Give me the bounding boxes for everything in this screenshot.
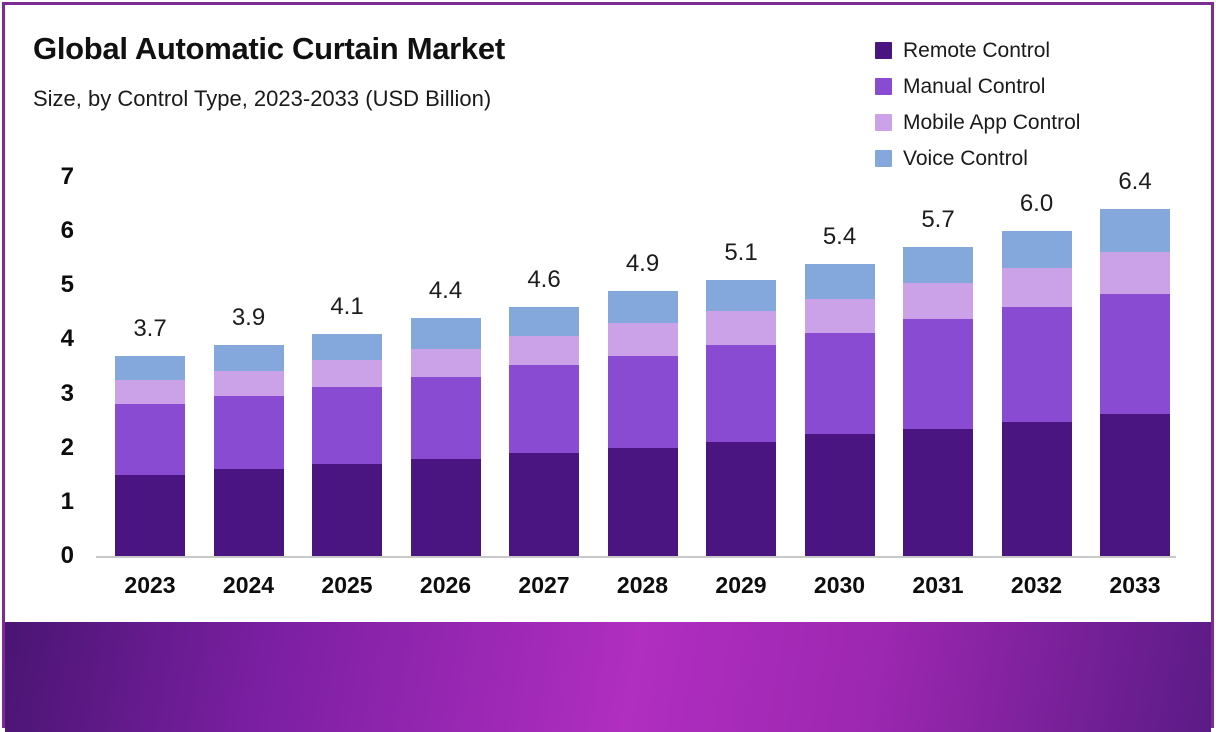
bar-stack[interactable]: [805, 264, 875, 556]
y-axis-tick-label: 5: [42, 271, 74, 299]
bar-segment[interactable]: [509, 307, 579, 336]
bar-segment[interactable]: [1100, 294, 1170, 414]
bar-segment[interactable]: [608, 356, 678, 448]
bar-segment[interactable]: [903, 319, 973, 428]
y-axis-tick-label: 7: [42, 163, 74, 191]
bar-stack[interactable]: [509, 307, 579, 556]
bar-segment[interactable]: [903, 429, 973, 556]
bar-stack[interactable]: [706, 280, 776, 556]
bar-stack[interactable]: [115, 356, 185, 556]
bar-segment[interactable]: [312, 464, 382, 556]
y-axis-tick-label: 1: [42, 488, 74, 516]
bar-segment[interactable]: [411, 377, 481, 458]
bar-segment[interactable]: [706, 280, 776, 311]
bottom-banner: [5, 622, 1211, 732]
bar-segment[interactable]: [312, 360, 382, 387]
bar-segment[interactable]: [509, 365, 579, 453]
bar-segment[interactable]: [805, 333, 875, 434]
bar-segment[interactable]: [115, 380, 185, 404]
bar-stack[interactable]: [903, 247, 973, 556]
bar-stack[interactable]: [411, 318, 481, 556]
y-axis-tick-label: 0: [42, 542, 74, 570]
bar-segment[interactable]: [706, 311, 776, 345]
bar-segment[interactable]: [1100, 252, 1170, 294]
y-axis-tick-label: 6: [42, 217, 74, 245]
bar-segment[interactable]: [1100, 414, 1170, 556]
bar-segment[interactable]: [608, 448, 678, 556]
bar-segment[interactable]: [903, 283, 973, 320]
bar-segment[interactable]: [214, 371, 284, 396]
bar-segment[interactable]: [312, 334, 382, 360]
bar-stack[interactable]: [214, 345, 284, 556]
bar-stack[interactable]: [312, 334, 382, 556]
infographic-root: Global Automatic Curtain Market Size, by…: [0, 0, 1216, 732]
bar-segment[interactable]: [214, 345, 284, 371]
bar-segment[interactable]: [214, 469, 284, 556]
bar-segment[interactable]: [706, 442, 776, 556]
bar-segment[interactable]: [312, 387, 382, 464]
y-axis-tick-label: 3: [42, 380, 74, 408]
chart-plot-area: 012345673.720233.920244.120254.420264.62…: [0, 0, 1216, 620]
bar-segment[interactable]: [608, 323, 678, 355]
y-axis-tick-label: 2: [42, 434, 74, 462]
bar-segment[interactable]: [1002, 231, 1072, 268]
bar-segment[interactable]: [805, 299, 875, 333]
bar-segment[interactable]: [805, 434, 875, 556]
x-axis-tick-label: 2033: [1075, 572, 1195, 599]
x-axis-line: [96, 556, 1176, 558]
bar-stack[interactable]: [1002, 231, 1072, 556]
bar-segment[interactable]: [903, 247, 973, 282]
bar-segment[interactable]: [214, 396, 284, 469]
y-axis-tick-label: 4: [42, 325, 74, 353]
bar-segment[interactable]: [1002, 307, 1072, 422]
bar-segment[interactable]: [608, 291, 678, 323]
bar-stack[interactable]: [608, 291, 678, 556]
bar-segment[interactable]: [411, 318, 481, 349]
bar-segment[interactable]: [115, 475, 185, 556]
bar-segment[interactable]: [805, 264, 875, 299]
bar-segment[interactable]: [509, 453, 579, 556]
bar-segment[interactable]: [115, 356, 185, 380]
bar-stack[interactable]: [1100, 209, 1170, 556]
bar-segment[interactable]: [706, 345, 776, 442]
bar-segment[interactable]: [1100, 209, 1170, 251]
bar-segment[interactable]: [1002, 422, 1072, 556]
bar-segment[interactable]: [509, 336, 579, 366]
bar-segment[interactable]: [411, 459, 481, 556]
bar-segment[interactable]: [115, 404, 185, 474]
bar-segment[interactable]: [411, 349, 481, 377]
bar-segment[interactable]: [1002, 268, 1072, 307]
bar-total-label: 6.4: [1075, 168, 1195, 196]
